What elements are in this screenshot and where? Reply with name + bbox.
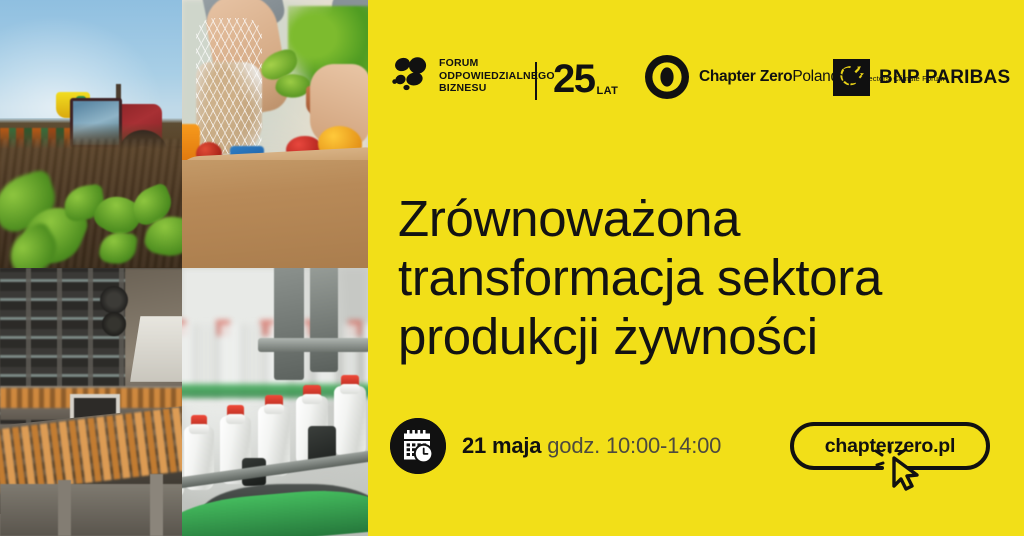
calendar-clock-icon (390, 418, 446, 474)
photo-collage (0, 0, 368, 536)
chapter-zero-ring-icon (644, 54, 690, 100)
anniversary-badge: 25 LAT (553, 58, 618, 100)
photo-bakery-production-line (0, 268, 182, 536)
filling-machine-arm (274, 268, 304, 380)
page-title: Zrównoważona transformacja sektora produ… (398, 189, 1018, 366)
event-time: godz. 10:00-14:00 (547, 433, 721, 458)
chapter-zero-poland: Poland (792, 68, 838, 85)
logo-forum-odpowiedzialnego-biznesu: FORUM ODPOWIEDZIALNEGO BIZNESU (390, 56, 555, 96)
photo-tractor-seeding-field (0, 0, 182, 268)
headline-line-3: produkcji żywności (398, 307, 1018, 366)
cta-chapterzero-button[interactable]: chapterzero.pl (790, 422, 990, 470)
headline-line-2: transformacja sektora (398, 248, 1018, 307)
photo-grocery-box-vegetables (182, 0, 368, 268)
logo-row: FORUM ODPOWIEDZIALNEGO BIZNESU 25 LAT (390, 56, 1010, 118)
net-bag-mesh (196, 18, 262, 154)
content-panel: FORUM ODPOWIEDZIALNEGO BIZNESU 25 LAT (368, 0, 1024, 536)
conveyor-leg (150, 474, 163, 536)
photo-milk-bottling-line (182, 268, 368, 536)
event-date-text: 21 maja godz. 10:00-14:00 (462, 433, 721, 459)
click-cursor-icon (894, 458, 917, 489)
machine-drum (100, 286, 128, 314)
milk-bottle (334, 386, 366, 456)
logo-bnp-paribas: BNP PARIBAS (833, 59, 1010, 96)
machine-drum (102, 312, 126, 336)
fob-dots-icon (390, 56, 430, 96)
fob-wordmark: FORUM ODPOWIEDZIALNEGO BIZNESU (439, 57, 555, 94)
fob-line-3: BIZNESU (439, 82, 487, 94)
machine-crossbar (258, 338, 368, 352)
event-date-block: 21 maja godz. 10:00-14:00 (390, 418, 721, 474)
bnp-paribas-stars-icon (833, 59, 870, 96)
chapter-zero-line-2: ZeroPoland (760, 68, 843, 85)
fob-line-1: FORUM (439, 57, 479, 69)
cta-pill-shape (790, 422, 990, 492)
event-banner: FORUM ODPOWIEDZIALNEGO BIZNESU 25 LAT (0, 0, 1024, 536)
anniversary-unit: LAT (597, 85, 619, 97)
fob-line-2: ODPOWIEDZIALNEGO (439, 70, 555, 82)
conveyor-leg (58, 480, 71, 536)
event-date: 21 maja (462, 433, 541, 458)
chapter-zero-line-1: Chapter (699, 68, 755, 85)
anniversary-number: 25 (553, 58, 595, 100)
bnp-paribas-wordmark: BNP PARIBAS (879, 67, 1010, 89)
headline-line-1: Zrównoważona (398, 189, 1018, 248)
cardboard-box (182, 160, 368, 268)
logo-divider (535, 62, 537, 100)
footer-row: 21 maja godz. 10:00-14:00 (390, 418, 1010, 498)
filling-machine-arm (310, 268, 338, 372)
chapter-zero-zero: Zero (760, 68, 792, 85)
